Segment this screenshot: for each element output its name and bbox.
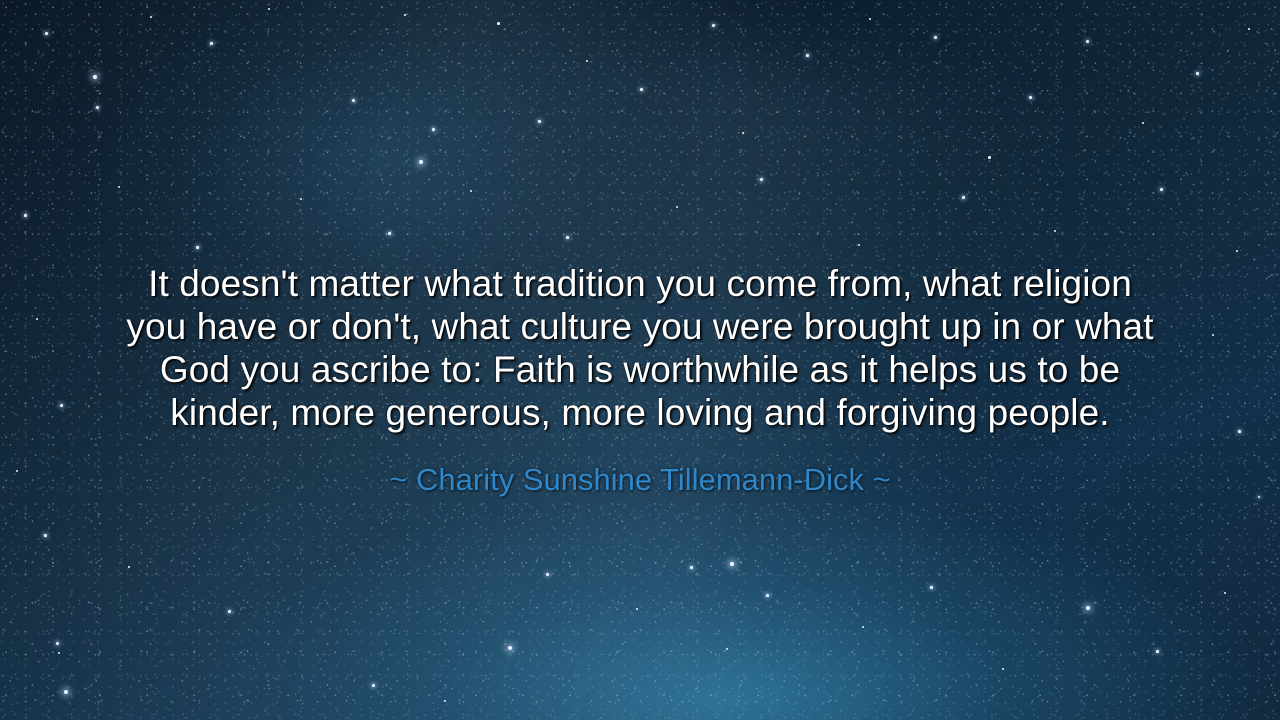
- quote-card: It doesn't matter what tradition you com…: [0, 0, 1280, 720]
- night-sky-background: [0, 0, 1280, 720]
